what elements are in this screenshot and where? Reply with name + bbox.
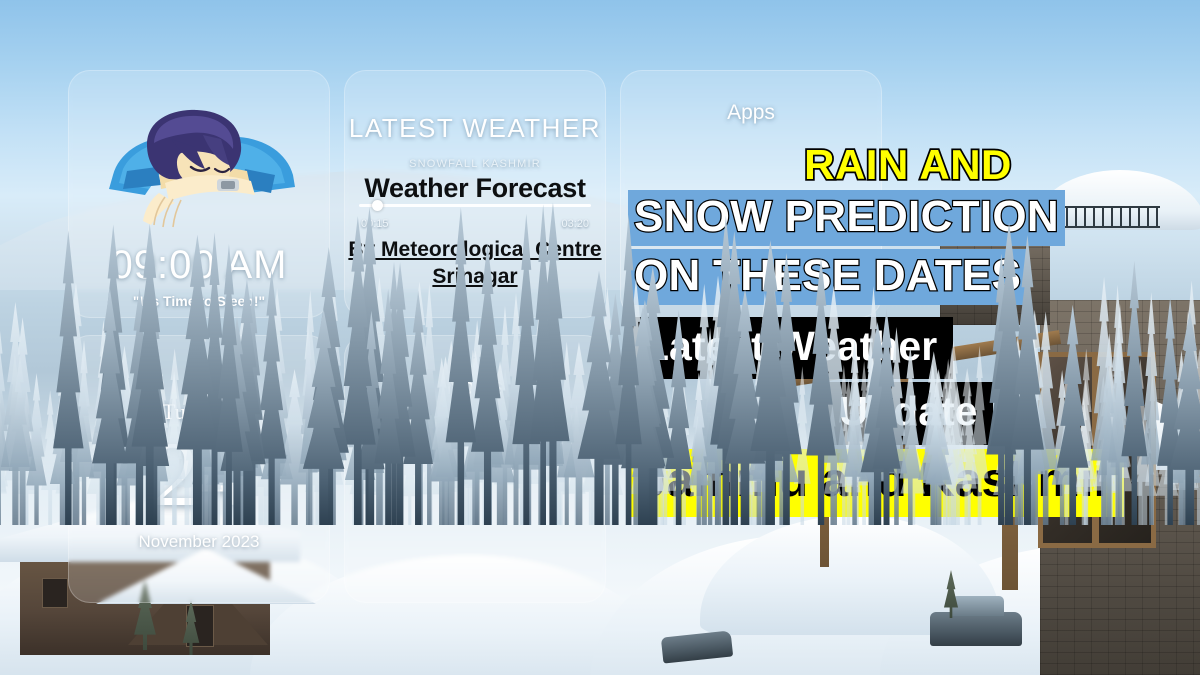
total-time: 03:20 (561, 218, 589, 230)
apps-label: Apps (621, 101, 881, 125)
buried-car (930, 612, 1022, 646)
playback-progress-bar[interactable] (359, 204, 591, 207)
sleeping-anime-illustration (99, 109, 304, 234)
widget-header: LATEST WEATHER (345, 113, 605, 144)
forecast-byline: By Meteorological Centre Srinagar (343, 237, 607, 291)
forecast-eyebrow: SNOWFALL KASHMIR (345, 158, 605, 170)
weather-forecast-widget[interactable]: LATEST WEATHER SNOWFALL KASHMIR Weather … (344, 70, 606, 318)
elapsed-time: 00:15 (361, 218, 389, 230)
headline-line-3: ON THESE DATES (628, 249, 1027, 305)
headline-line-1: RAIN AND (800, 142, 1016, 187)
buried-car-cab (952, 596, 1004, 616)
wallpaper-stage: 09:00 AM "It's Time to Sleep!" LATEST WE… (0, 0, 1200, 675)
forecast-title: Weather Forecast (345, 173, 605, 204)
playback-knob[interactable] (372, 200, 383, 211)
date-month-year: November 2023 (69, 532, 329, 552)
headline-line-2: SNOW PREDICTION (628, 190, 1065, 246)
